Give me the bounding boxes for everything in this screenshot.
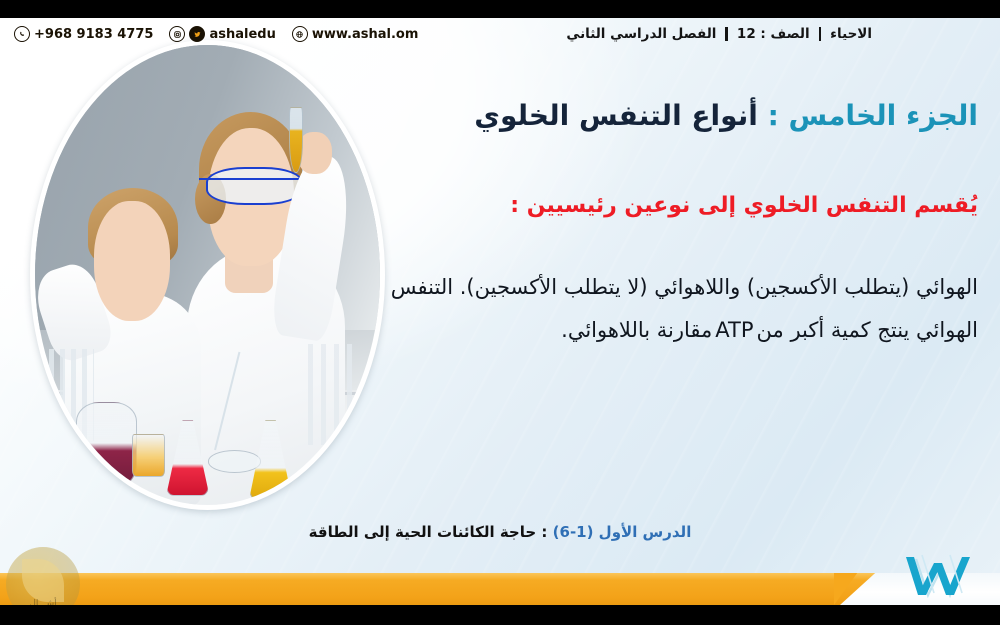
slide-canvas: الجزء الخامس : أنواع التنفس الخلوي يُقسم… [0, 18, 1000, 605]
atp-term: ATP [712, 309, 756, 352]
meta-separator-2 [725, 27, 728, 41]
slide-frame: الجزء الخامس : أنواع التنفس الخلوي يُقسم… [0, 0, 1000, 625]
lesson-number: الدرس الأول (1-6) [553, 523, 692, 541]
term-label: الفصل الدراسي الثاني [566, 26, 716, 42]
contact-website[interactable]: www.ashal.om [292, 26, 419, 42]
page-title-topic: أنواع التنفس الخلوي [474, 99, 758, 132]
slide-content: الجزء الخامس : أنواع التنفس الخلوي يُقسم… [378, 96, 978, 352]
body-line-2-before: كمية أكبر من [757, 318, 871, 342]
footer-contact-group: +968 9183 4775 ashaledu [14, 18, 418, 50]
meta-separator-1 [819, 27, 822, 41]
photo-boy-face [94, 201, 170, 321]
contact-whatsapp[interactable]: +968 9183 4775 [14, 26, 153, 42]
photo-safety-goggles [206, 167, 303, 206]
page-title-section: الجزء الخامس : [768, 99, 978, 132]
website-url: www.ashal.om [312, 27, 419, 42]
whatsapp-number: +968 9183 4775 [34, 27, 153, 42]
twitter-icon [189, 26, 205, 42]
photo-beaker-amber [132, 434, 165, 477]
photo-petri-dish [208, 450, 262, 473]
page-title: الجزء الخامس : أنواع التنفس الخلوي [378, 96, 978, 137]
subject-label: الاحياء [830, 26, 872, 42]
globe-icon [292, 26, 308, 42]
ashal-watermark-logo: أشـــال [6, 547, 80, 605]
lesson-breadcrumb: الدرس الأول (1-6) : حاجة الكائنات الحية … [0, 523, 1000, 541]
letterbox-top [0, 0, 1000, 18]
grade-label: الصف : 12 [737, 26, 810, 42]
lab-photo-oval-frame [30, 40, 385, 510]
watermark-leaf-shape [22, 559, 63, 602]
ashal-w-logo [882, 551, 986, 603]
lesson-name: : حاجة الكائنات الحية إلى الطاقة [309, 523, 548, 541]
lab-photo [35, 45, 380, 505]
social-handle: ashaledu [209, 27, 275, 42]
photo-flask-purple [76, 402, 137, 491]
body-line-2-after: مقارنة باللاهوائي. [561, 318, 712, 342]
body-paragraph: الهوائي (يتطلب الأكسجين) واللاهوائي (لا … [378, 266, 978, 352]
photo-test-tube-yellow [289, 107, 303, 173]
letterbox-bottom [0, 605, 1000, 625]
footer-meta-group: الاحياء الصف : 12 الفصل الدراسي الثاني [566, 18, 872, 50]
whatsapp-icon [14, 26, 30, 42]
instagram-icon [169, 26, 185, 42]
photo-test-tubes-right [304, 344, 359, 445]
contact-social[interactable]: ashaledu [169, 26, 275, 42]
subheading: يُقسم التنفس الخلوي إلى نوعين رئيسيين : [378, 189, 978, 222]
